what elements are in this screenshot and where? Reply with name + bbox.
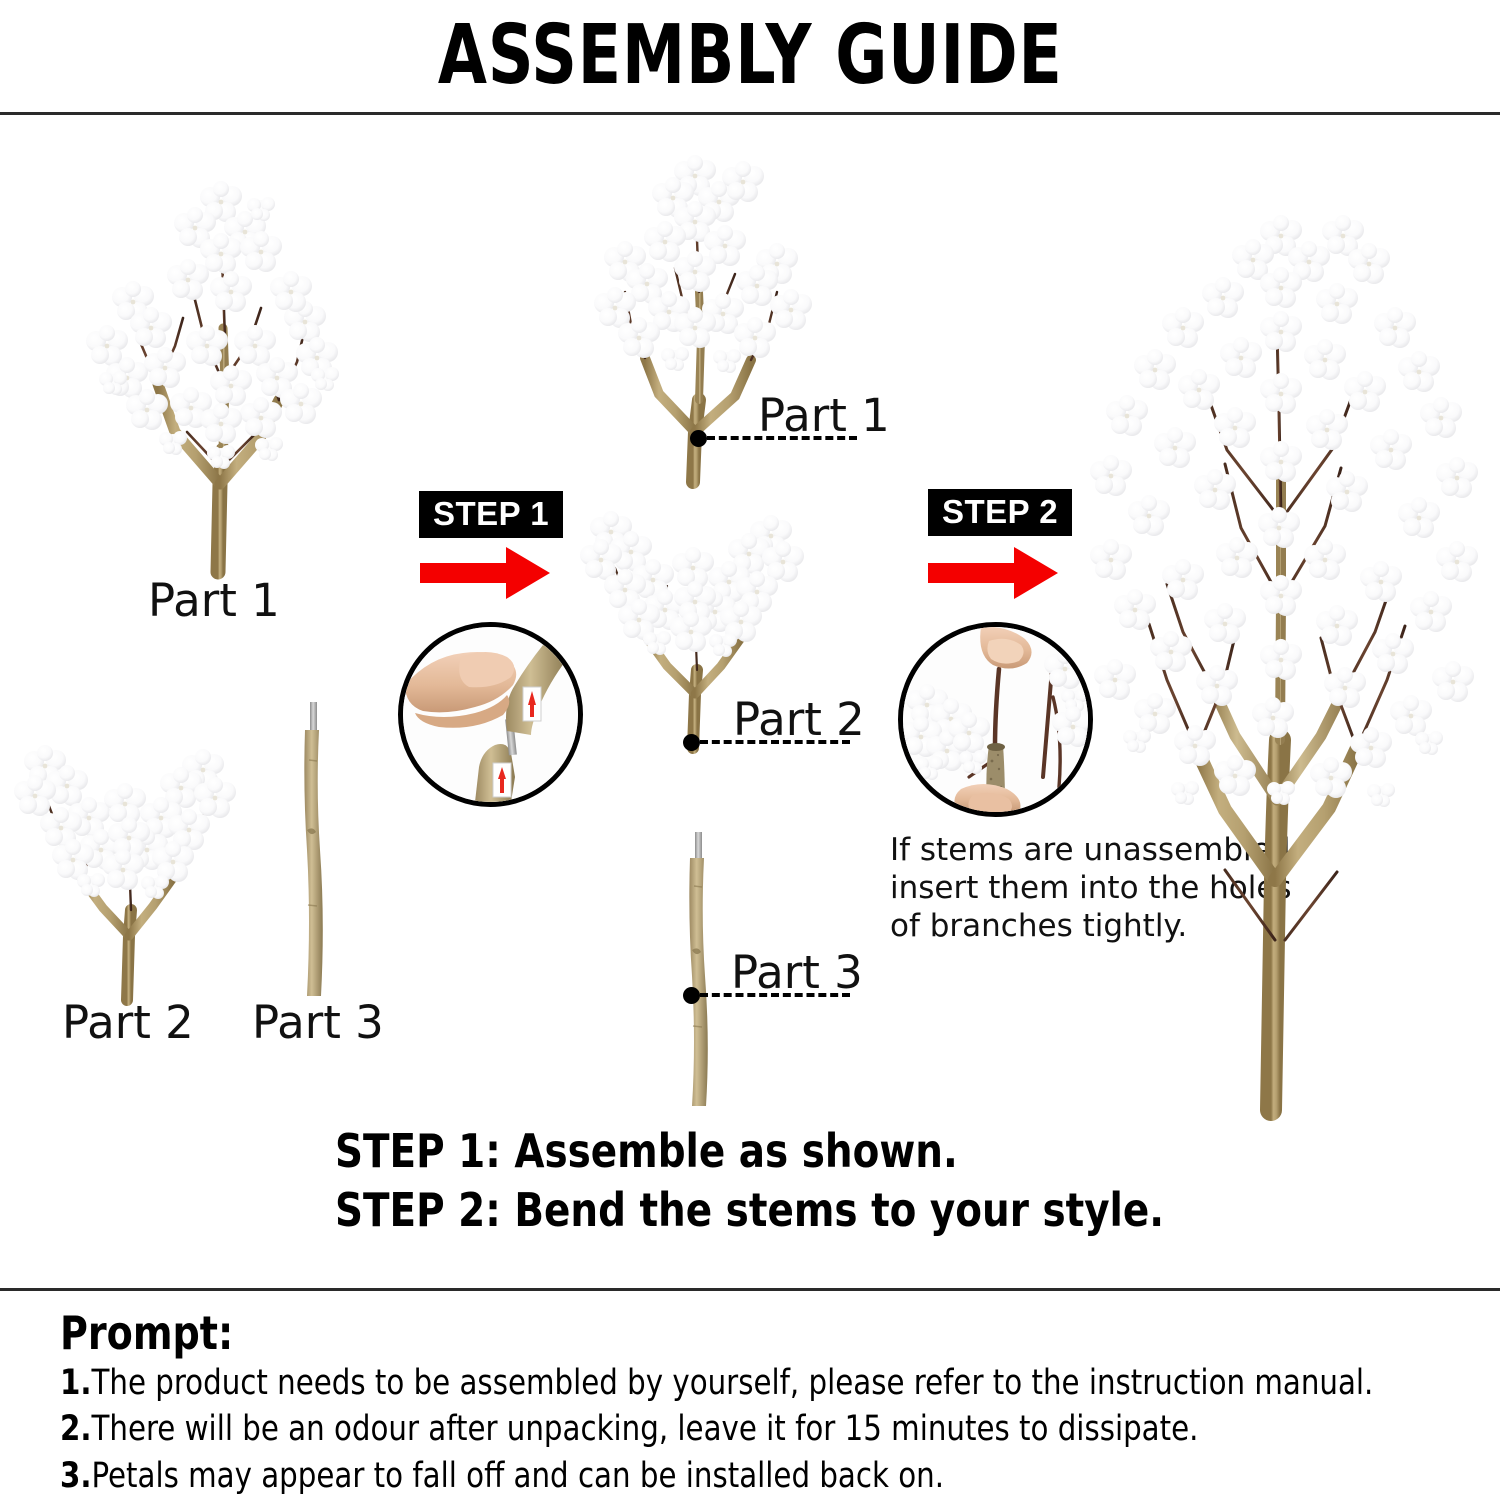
part3-rod-illustration [285, 700, 345, 1000]
header-divider [0, 112, 1500, 115]
prompt-item-3: 3.Petals may appear to fall off and can … [60, 1453, 1381, 1500]
callout-part2: Part 2 [683, 732, 843, 752]
step2-photo-inset [898, 622, 1093, 817]
prompt-section: Prompt: 1.The product needs to be assemb… [60, 1308, 1480, 1499]
prompt-item-1: 1.The product needs to be assembled by y… [60, 1360, 1381, 1407]
callout-dot [690, 430, 707, 447]
prompt-item-3-number: 3. [60, 1456, 92, 1496]
page-title: ASSEMBLY GUIDE [438, 15, 1063, 97]
prompt-item-1-number: 1. [60, 1363, 92, 1403]
step-instruction-2: STEP 2: Bend the stems to your style. [335, 1181, 1164, 1240]
part2-branch-illustration [5, 700, 265, 1000]
prompt-item-1-text: The product needs to be assembled by you… [92, 1363, 1374, 1403]
right-arrow-icon [420, 545, 550, 601]
prompt-title: Prompt: [60, 1308, 1366, 1360]
step1-badge: STEP 1 [419, 491, 563, 538]
assembly-part3-illustration [670, 830, 730, 1110]
step1-photo-inset [398, 622, 583, 807]
step2-badge: STEP 2 [928, 489, 1072, 536]
prompt-divider [0, 1288, 1500, 1291]
assembly-guide-page: ASSEMBLY GUIDE [0, 0, 1500, 1500]
prompt-item-2: 2.There will be an odour after unpacking… [60, 1406, 1381, 1453]
page-header: ASSEMBLY GUIDE [0, 0, 1500, 112]
part1-legend-label: Part 1 [148, 578, 280, 623]
callout-part1-label: Part 1 [758, 389, 890, 442]
callout-part3: Part 3 [683, 985, 843, 1005]
assembled-tree-illustration [1075, 180, 1495, 1110]
callout-dot [683, 734, 700, 751]
callout-dot [683, 987, 700, 1004]
step-instructions: STEP 1: Assemble as shown. STEP 2: Bend … [335, 1122, 1217, 1240]
prompt-item-2-text: There will be an odour after unpacking, … [92, 1409, 1199, 1449]
callout-part3-label: Part 3 [731, 946, 863, 999]
part3-legend-label: Part 3 [252, 1000, 384, 1045]
right-arrow-icon [928, 545, 1058, 601]
step-instruction-1: STEP 1: Assemble as shown. [335, 1122, 1164, 1181]
part2-legend-label: Part 2 [62, 1000, 194, 1045]
part1-branch-illustration [55, 132, 385, 572]
callout-part1: Part 1 [690, 428, 850, 448]
prompt-item-2-number: 2. [60, 1409, 92, 1449]
prompt-item-3-text: Petals may appear to fall off and can be… [92, 1456, 945, 1496]
callout-part2-label: Part 2 [733, 693, 865, 746]
